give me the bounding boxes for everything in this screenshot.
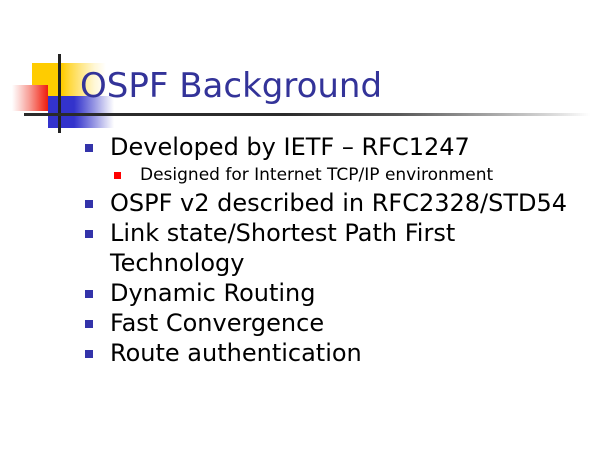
red-square-decoration	[12, 85, 48, 111]
bullet-item: Route authentication	[78, 338, 588, 368]
bullet-text: Designed for Internet TCP/IP environment	[140, 162, 588, 188]
bullet-text: Fast Convergence	[110, 308, 588, 338]
bullet-item: Fast Convergence	[78, 308, 588, 338]
slide-title: OSPF Background	[80, 66, 382, 106]
bullet-text: OSPF v2 described in RFC2328/STD54	[110, 188, 588, 218]
horizontal-rule-divider	[24, 113, 590, 116]
bullet-item: Dynamic Routing	[78, 278, 588, 308]
square-bullet-blue-icon	[85, 290, 93, 298]
square-bullet-blue-icon	[85, 350, 93, 358]
bullet-text: Developed by IETF – RFC1247	[110, 132, 588, 162]
vertical-rule-decoration	[58, 54, 61, 133]
bullet-text: Link state/Shortest Path First Technolog…	[110, 218, 588, 278]
blue-square-decoration	[48, 96, 74, 128]
bullet-text: Dynamic Routing	[110, 278, 588, 308]
square-bullet-blue-icon	[85, 200, 93, 208]
bullet-text: Route authentication	[110, 338, 588, 368]
bullet-item-sub: Designed for Internet TCP/IP environment	[78, 162, 588, 188]
square-bullet-blue-icon	[85, 320, 93, 328]
square-bullet-blue-icon	[85, 230, 93, 238]
presentation-slide: OSPF Background Developed by IETF – RFC1…	[0, 0, 600, 450]
slide-body-bullet-list: Developed by IETF – RFC1247 Designed for…	[78, 132, 588, 368]
bullet-item: Developed by IETF – RFC1247	[78, 132, 588, 162]
bullet-item: OSPF v2 described in RFC2328/STD54	[78, 188, 588, 218]
bullet-item: Link state/Shortest Path First Technolog…	[78, 218, 588, 278]
square-bullet-red-icon	[114, 172, 121, 179]
square-bullet-blue-icon	[85, 144, 93, 152]
